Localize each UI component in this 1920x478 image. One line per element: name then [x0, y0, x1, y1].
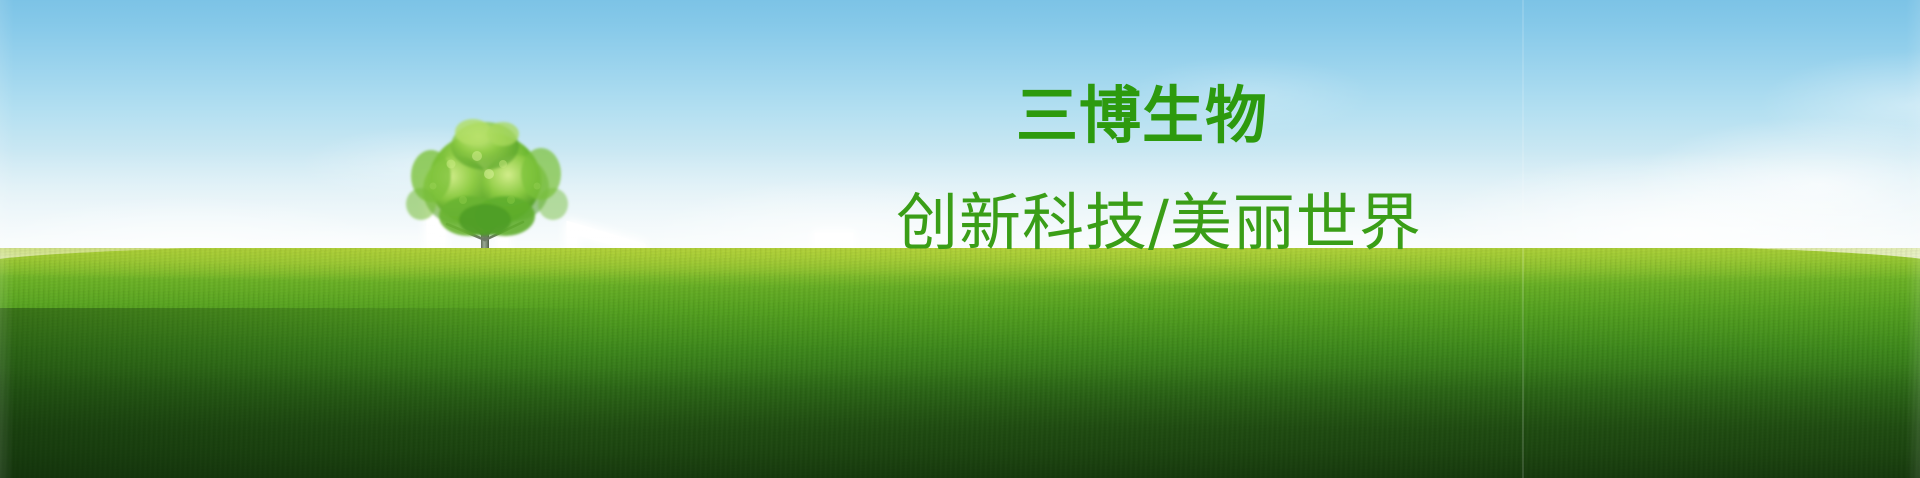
grass-left-shading	[0, 308, 660, 478]
grass-gradient	[0, 248, 1920, 478]
hero-banner: 三博生物 创新科技/美丽世界	[0, 0, 1920, 478]
grass-field	[0, 248, 1920, 478]
